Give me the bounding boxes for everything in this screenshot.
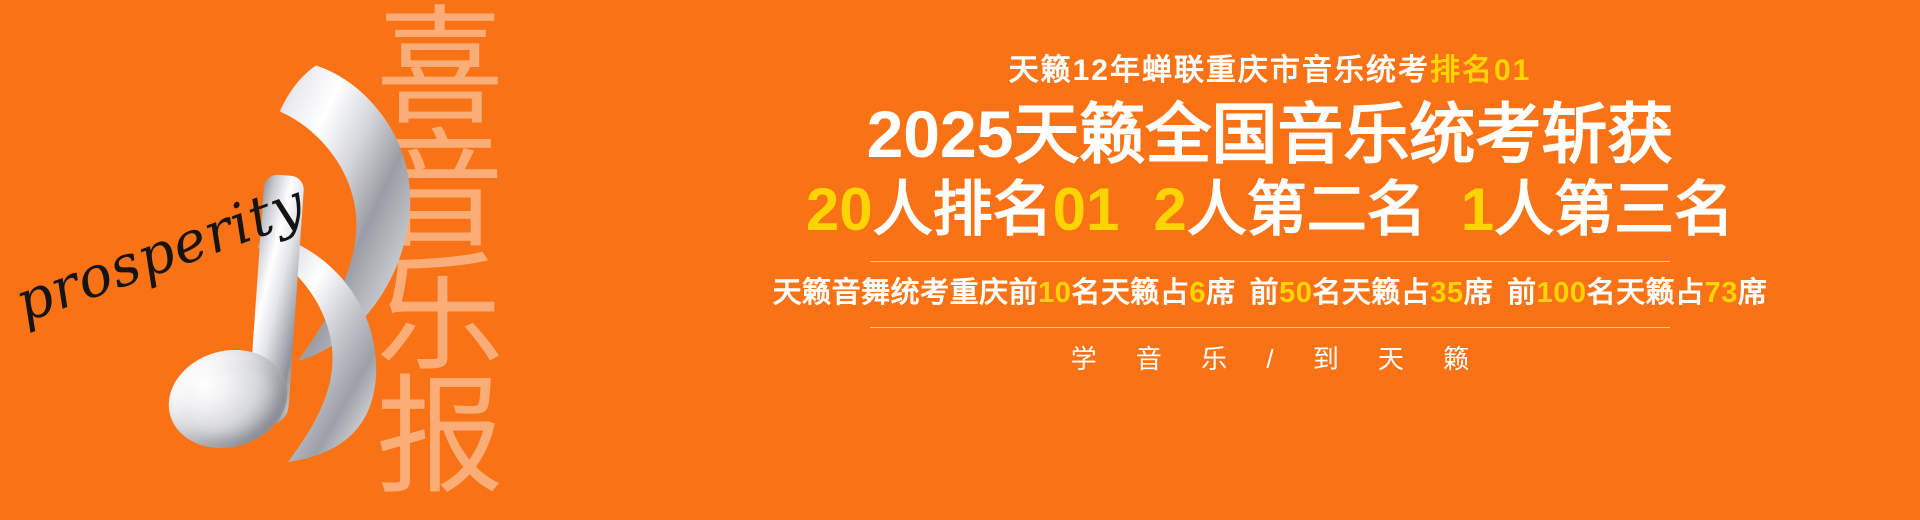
result-2-label: 人第二名 xyxy=(1187,176,1427,243)
stats-n6: 73 xyxy=(1705,277,1738,309)
stats-t6: 席 xyxy=(1738,277,1768,309)
stats-t2: 席 xyxy=(1206,277,1236,309)
stats-t1: 名天籁占 xyxy=(1071,277,1189,309)
stats-n3: 50 xyxy=(1279,277,1312,309)
headline: 2025天籁全国音乐统考斩获 xyxy=(867,99,1674,170)
eyebrow-white-text: 天籁12年蝉联重庆市音乐统考 xyxy=(1009,54,1430,87)
stats-lead2: 前 xyxy=(1250,277,1280,309)
stats-t3: 名天籁占 xyxy=(1312,277,1430,309)
result-3-count: 1 xyxy=(1461,176,1494,243)
hero-graphic: 喜 音 乐 报 prosperity xyxy=(0,0,620,520)
stats-t4: 席 xyxy=(1464,277,1494,309)
eyebrow-highlight-text: 排名01 xyxy=(1430,54,1531,87)
result-1-rank: 01 xyxy=(1053,176,1120,243)
stats-lead3: 前 xyxy=(1507,277,1537,309)
eyebrow-line: 天籁12年蝉联重庆市音乐统考排名01 xyxy=(1009,54,1532,87)
stats-n1: 10 xyxy=(1038,277,1071,309)
stats-n4: 35 xyxy=(1430,277,1463,309)
divider-bottom xyxy=(870,327,1670,328)
banner-content: 天籁12年蝉联重庆市音乐统考排名01 2025天籁全国音乐统考斩获 20人排名0… xyxy=(620,0,1920,520)
result-1-count: 20 xyxy=(806,176,873,243)
result-3-label: 人第三名 xyxy=(1494,176,1734,243)
result-1-label: 人排名 xyxy=(873,176,1053,243)
stats-t5: 名天籁占 xyxy=(1587,277,1705,309)
stats-n2: 6 xyxy=(1189,277,1206,309)
promo-banner: 喜 音 乐 报 prosperity 天籁12年蝉联重庆市音乐统考排名01 20… xyxy=(0,0,1920,520)
result-2-count: 2 xyxy=(1153,176,1186,243)
tagline: 学 音 乐 / 到 天 籁 xyxy=(1055,344,1486,375)
divider-top xyxy=(870,261,1670,262)
stats-line: 天籁音舞统考重庆前10名天籁占6席前50名天籁占35席前100名天籁占73席 xyxy=(773,276,1768,311)
results-line: 20人排名012人第二名1人第三名 xyxy=(806,176,1734,243)
stats-n5: 100 xyxy=(1537,277,1587,309)
stats-lead: 天籁音舞统考重庆前 xyxy=(773,277,1039,309)
